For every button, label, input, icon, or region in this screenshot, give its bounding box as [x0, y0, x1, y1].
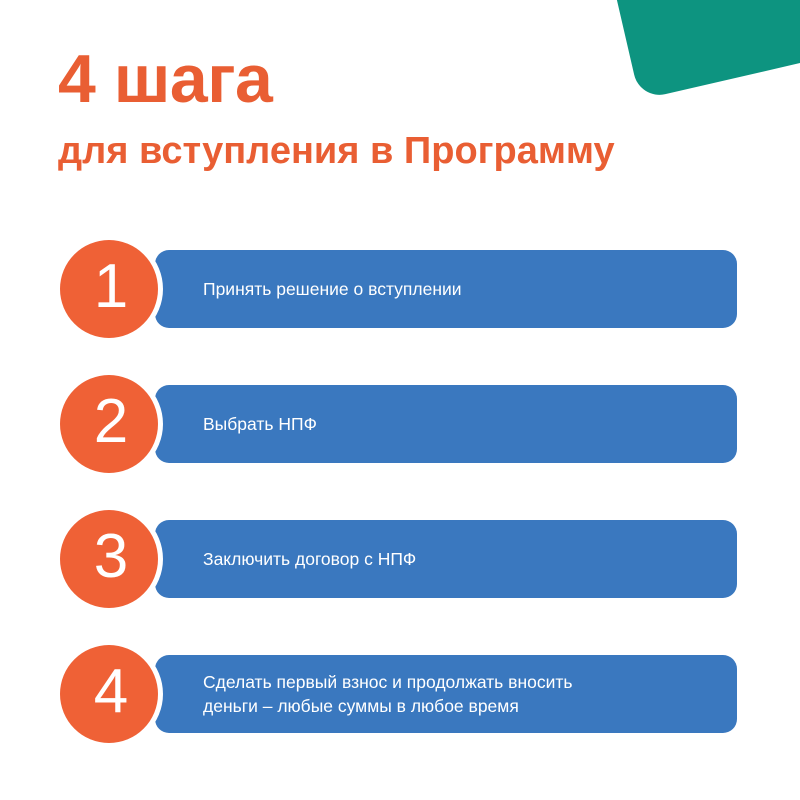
step-number-badge: 3 [60, 510, 158, 608]
step-number-text: 2 [94, 391, 128, 453]
title-block: 4 шага для вступления в Программу [58, 42, 758, 174]
step-number-badge: 4 [60, 645, 158, 743]
steps-list: Принять решение о вступлении 1 Выбрать Н… [0, 240, 800, 743]
step-bar: Сделать первый взнос и продолжать вносит… [155, 655, 737, 733]
step-row: Заключить договор с НПФ 3 [0, 510, 800, 608]
step-row: Принять решение о вступлении 1 [0, 240, 800, 338]
page-title: 4 шага [58, 42, 758, 116]
step-bar: Заключить договор с НПФ [155, 520, 737, 598]
step-row: Сделать первый взнос и продолжать вносит… [0, 645, 800, 743]
step-number-text: 3 [94, 526, 128, 588]
step-label: Выбрать НПФ [155, 412, 341, 436]
infographic-poster: 4 шага для вступления в Программу Принят… [0, 0, 800, 800]
step-label: Заключить договор с НПФ [155, 547, 440, 571]
step-number-text: 4 [94, 661, 128, 723]
step-label: Принять решение о вступлении [155, 277, 486, 301]
step-number-text: 1 [94, 256, 128, 318]
step-number-badge: 2 [60, 375, 158, 473]
step-row: Выбрать НПФ 2 [0, 375, 800, 473]
step-bar: Принять решение о вступлении [155, 250, 737, 328]
page-subtitle: для вступления в Программу [58, 128, 758, 174]
step-bar: Выбрать НПФ [155, 385, 737, 463]
step-label: Сделать первый взнос и продолжать вносит… [155, 670, 597, 718]
step-number-badge: 1 [60, 240, 158, 338]
